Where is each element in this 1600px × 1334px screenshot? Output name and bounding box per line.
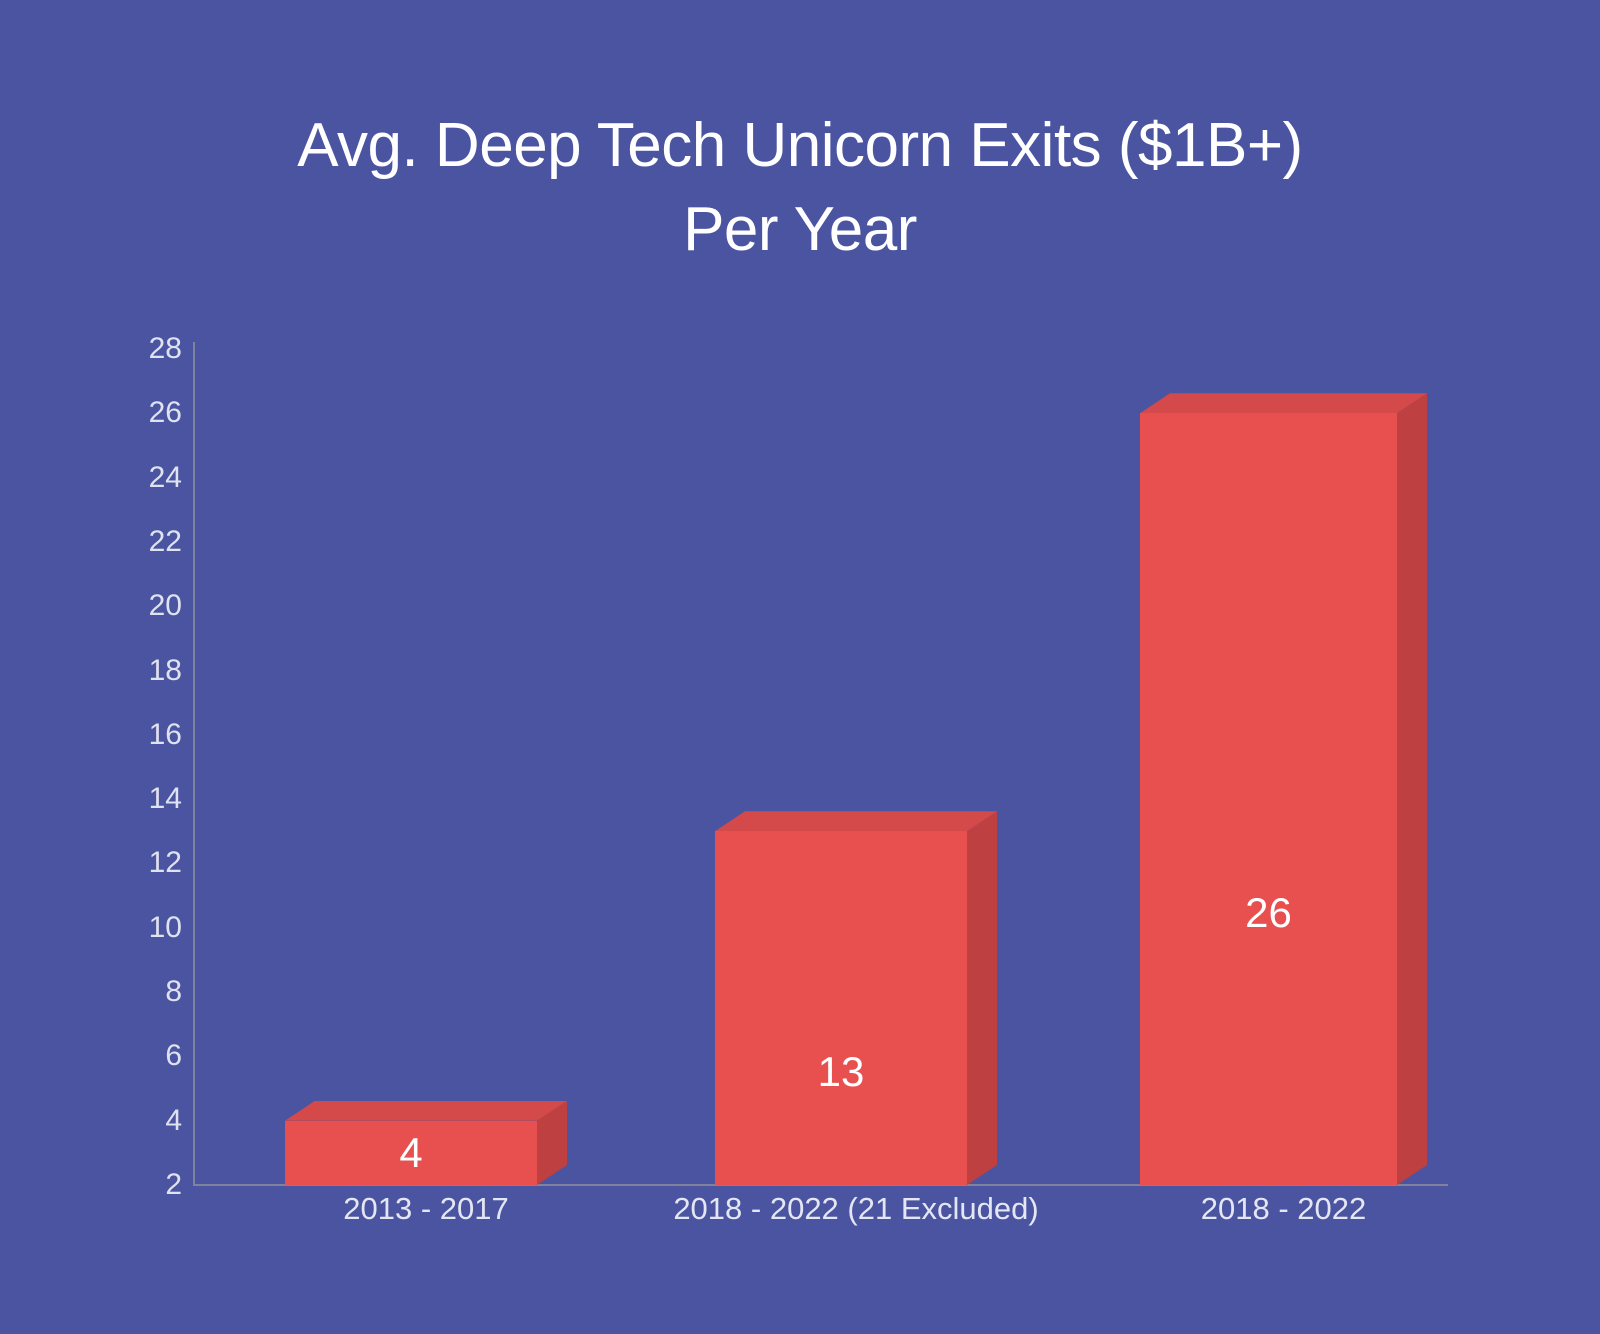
bar-column[interactable]: 26	[1140, 413, 1397, 1185]
bar-value-label: 4	[285, 1132, 537, 1174]
bar-front-face	[1140, 413, 1397, 1185]
plot-area: 282624222018161412108642 41326 2013 - 20…	[0, 0, 1600, 1334]
y-axis-tick-label: 26	[62, 398, 182, 428]
bar-value-label: 26	[1140, 892, 1397, 934]
y-axis-tick-label: 20	[62, 591, 182, 621]
bar-side-face	[967, 811, 997, 1185]
x-axis-category-label: 2018 - 2022 (21 Excluded)	[673, 1192, 1038, 1226]
bar-top-face	[715, 811, 997, 831]
y-axis-tick-label: 12	[62, 848, 182, 878]
y-axis-tick-label: 14	[62, 784, 182, 814]
x-axis-category-label: 2013 - 2017	[343, 1192, 508, 1226]
x-axis-category-label: 2018 - 2022	[1201, 1192, 1366, 1226]
bar-column[interactable]: 4	[285, 1121, 537, 1185]
y-axis-tick-label: 22	[62, 527, 182, 557]
bar-side-face	[1397, 393, 1427, 1185]
y-axis-tick-label: 2	[62, 1170, 182, 1200]
bar-top-face	[1140, 393, 1427, 413]
bar-front-face	[715, 831, 967, 1185]
y-axis-tick-label: 4	[62, 1106, 182, 1136]
y-axis-tick-label: 10	[62, 913, 182, 943]
y-axis-tick-label: 6	[62, 1041, 182, 1071]
y-axis-tick-label: 8	[62, 977, 182, 1007]
bar-top-face	[285, 1101, 567, 1121]
y-axis-tick-label: 28	[62, 334, 182, 364]
bar-column[interactable]: 13	[715, 831, 967, 1185]
y-axis-line	[193, 342, 195, 1186]
bar-value-label: 13	[715, 1051, 967, 1093]
y-axis-tick-label: 16	[62, 720, 182, 750]
y-axis-tick-label: 18	[62, 656, 182, 686]
chart-container: Avg. Deep Tech Unicorn Exits ($1B+) Per …	[0, 0, 1600, 1334]
y-axis-tick-label: 24	[62, 463, 182, 493]
